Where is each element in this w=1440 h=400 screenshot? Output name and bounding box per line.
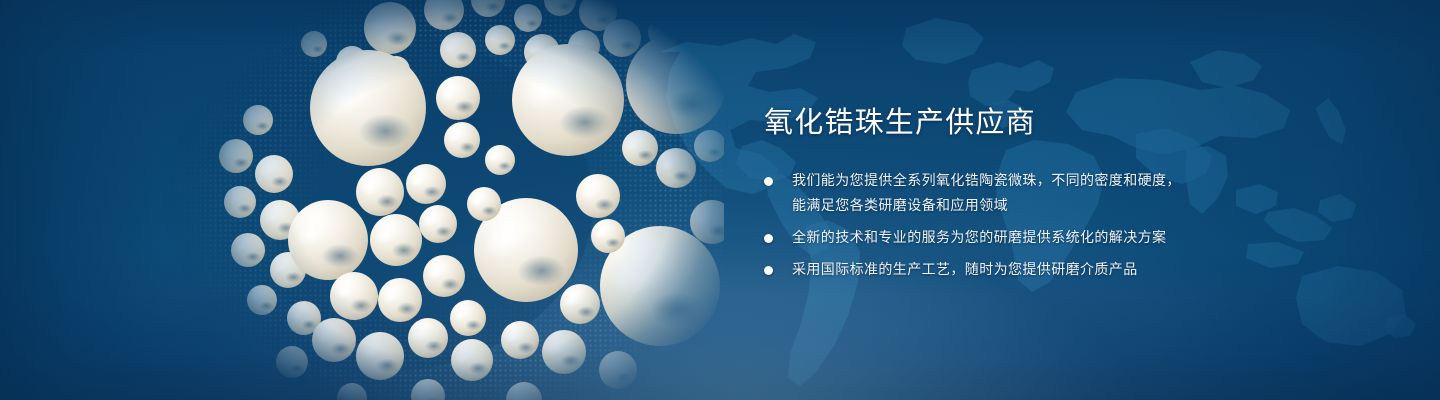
list-item-line: 能满足您各类研磨设备和应用领域 <box>792 193 1232 218</box>
feature-list: 我们能为您提供全系列氧化锆陶瓷微珠，不同的密度和硬度， 能满足您各类研磨设备和应… <box>762 168 1232 282</box>
banner-copy: 氧化锆珠生产供应商 我们能为您提供全系列氧化锆陶瓷微珠，不同的密度和硬度， 能满… <box>762 104 1232 282</box>
list-item: 我们能为您提供全系列氧化锆陶瓷微珠，不同的密度和硬度， 能满足您各类研磨设备和应… <box>762 168 1232 218</box>
list-item-line: 采用国际标准的生产工艺，随时为您提供研磨介质产品 <box>792 257 1232 282</box>
page-title: 氧化锆珠生产供应商 <box>764 104 1232 142</box>
list-item-line: 全新的技术和专业的服务为您的研磨提供系统化的解决方案 <box>792 225 1232 250</box>
bullet-dot-icon <box>764 266 773 275</box>
promo-banner: 氧化锆珠生产供应商 我们能为您提供全系列氧化锆陶瓷微珠，不同的密度和硬度， 能满… <box>0 0 1440 400</box>
list-item: 采用国际标准的生产工艺，随时为您提供研磨介质产品 <box>762 257 1232 282</box>
list-item-line: 我们能为您提供全系列氧化锆陶瓷微珠，不同的密度和硬度， <box>792 168 1232 193</box>
zirconia-beads-photo <box>128 0 724 400</box>
bullet-dot-icon <box>764 234 773 243</box>
bullet-dot-icon <box>764 177 773 186</box>
list-item: 全新的技术和专业的服务为您的研磨提供系统化的解决方案 <box>762 225 1232 250</box>
